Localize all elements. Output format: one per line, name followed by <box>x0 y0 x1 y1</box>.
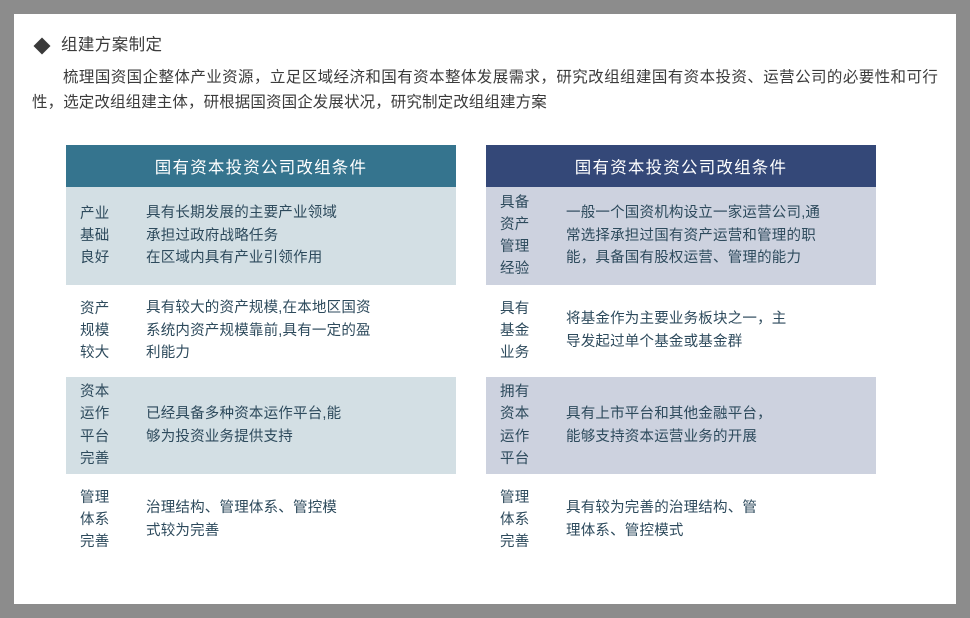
row-label-line: 平台 <box>80 426 146 448</box>
row-label: 拥有 资本 运作 平台 <box>500 381 566 469</box>
row-description: 已经具备多种资本运作平台,能 够为投资业务提供支持 <box>146 403 456 448</box>
row-desc-line: 利能力 <box>146 342 448 365</box>
row-desc-line: 能够支持资本运营业务的开展 <box>566 426 868 449</box>
slide-canvas: 组建方案制定 梳理国资国企整体产业资源，立足区域经济和国有资本整体发展需求，研究… <box>14 14 956 604</box>
right-table-header: 国有资本投资公司改组条件 <box>486 145 876 187</box>
row-desc-line: 承担过政府战略任务 <box>146 225 448 248</box>
row-description: 具有较为完善的治理结构、管 理体系、管控模式 <box>566 497 876 542</box>
row-desc-line: 已经具备多种资本运作平台,能 <box>146 403 448 426</box>
row-label-line: 基金 <box>500 320 566 342</box>
row-label-line: 平台 <box>500 448 566 470</box>
row-label-line: 管理 <box>500 236 566 258</box>
slide-frame: 组建方案制定 梳理国资国企整体产业资源，立足区域经济和国有资本整体发展需求，研究… <box>0 0 970 618</box>
row-label-line: 经验 <box>500 258 566 280</box>
row-label: 资产 规模 较大 <box>80 298 146 364</box>
row-label-line: 业务 <box>500 342 566 364</box>
table-row: 具备 资产 管理 经验 一般一个国资机构设立一家运营公司,通 常选择承担过国有资… <box>486 187 876 285</box>
row-label-line: 完善 <box>500 531 566 553</box>
row-label-line: 良好 <box>80 247 146 269</box>
row-description: 治理结构、管理体系、管控模 式较为完善 <box>146 497 456 542</box>
row-label-line: 具备 <box>500 192 566 214</box>
left-table: 国有资本投资公司改组条件 产业 基础 良好 具有长期发展的主要产业领域 承担过政… <box>66 145 456 566</box>
row-label: 产业 基础 良好 <box>80 203 146 269</box>
row-desc-line: 具有上市平台和其他金融平台， <box>566 403 868 426</box>
table-row: 管理 体系 完善 具有较为完善的治理结构、管 理体系、管控模式 <box>486 474 876 566</box>
row-label-line: 资本 <box>80 381 146 403</box>
row-label-line: 资本 <box>500 403 566 425</box>
row-desc-line: 能，具备国有股权运营、管理的能力 <box>566 247 868 270</box>
row-description: 将基金作为主要业务板块之一，主 导发起过单个基金或基金群 <box>566 308 876 353</box>
row-label-line: 规模 <box>80 320 146 342</box>
row-label-line: 运作 <box>500 426 566 448</box>
row-desc-line: 理体系、管控模式 <box>566 520 868 543</box>
row-label-line: 完善 <box>80 531 146 553</box>
section-title: 组建方案制定 <box>61 36 162 56</box>
row-label: 具备 资产 管理 经验 <box>500 192 566 280</box>
row-label-line: 完善 <box>80 448 146 470</box>
row-label-line: 基础 <box>80 225 146 247</box>
table-row: 产业 基础 良好 具有长期发展的主要产业领域 承担过政府战略任务 在区域内具有产… <box>66 187 456 285</box>
row-label: 管理 体系 完善 <box>500 487 566 553</box>
table-row: 具有 基金 业务 将基金作为主要业务板块之一，主 导发起过单个基金或基金群 <box>486 285 876 377</box>
row-description: 一般一个国资机构设立一家运营公司,通 常选择承担过国有资产运营和管理的职 能，具… <box>566 202 876 270</box>
row-desc-line: 导发起过单个基金或基金群 <box>566 331 868 354</box>
row-label-line: 拥有 <box>500 381 566 403</box>
right-table: 国有资本投资公司改组条件 具备 资产 管理 经验 一般一个国资机构设立一家运营公… <box>486 145 876 566</box>
row-label-line: 管理 <box>500 487 566 509</box>
row-label-line: 产业 <box>80 203 146 225</box>
row-description: 具有上市平台和其他金融平台， 能够支持资本运营业务的开展 <box>566 403 876 448</box>
left-table-header: 国有资本投资公司改组条件 <box>66 145 456 187</box>
row-desc-line: 一般一个国资机构设立一家运营公司,通 <box>566 202 868 225</box>
table-row: 资本 运作 平台 完善 已经具备多种资本运作平台,能 够为投资业务提供支持 <box>66 377 456 474</box>
row-label-line: 管理 <box>80 487 146 509</box>
row-desc-line: 常选择承担过国有资产运营和管理的职 <box>566 225 868 248</box>
table-row: 管理 体系 完善 治理结构、管理体系、管控模 式较为完善 <box>66 474 456 566</box>
row-label-line: 较大 <box>80 342 146 364</box>
row-desc-line: 治理结构、管理体系、管控模 <box>146 497 448 520</box>
intro-title-row: 组建方案制定 <box>36 36 938 56</box>
row-desc-line: 具有长期发展的主要产业领域 <box>146 202 448 225</box>
intro-block: 组建方案制定 梳理国资国企整体产业资源，立足区域经济和国有资本整体发展需求，研究… <box>14 14 956 115</box>
row-label-line: 体系 <box>80 509 146 531</box>
row-label: 具有 基金 业务 <box>500 298 566 364</box>
row-desc-line: 将基金作为主要业务板块之一，主 <box>566 308 868 331</box>
tables-container: 国有资本投资公司改组条件 产业 基础 良好 具有长期发展的主要产业领域 承担过政… <box>14 145 956 566</box>
row-label-line: 体系 <box>500 509 566 531</box>
section-body-text: 梳理国资国企整体产业资源，立足区域经济和国有资本整体发展需求，研究改组组建国有资… <box>32 65 938 115</box>
row-label-line: 资产 <box>500 214 566 236</box>
row-label-line: 运作 <box>80 403 146 425</box>
row-label: 资本 运作 平台 完善 <box>80 381 146 469</box>
row-label-line: 资产 <box>80 298 146 320</box>
row-desc-line: 具有较为完善的治理结构、管 <box>566 497 868 520</box>
row-label-line: 具有 <box>500 298 566 320</box>
row-desc-line: 式较为完善 <box>146 520 448 543</box>
row-desc-line: 够为投资业务提供支持 <box>146 426 448 449</box>
table-row: 资产 规模 较大 具有较大的资产规模,在本地区国资 系统内资产规模靠前,具有一定… <box>66 285 456 377</box>
table-row: 拥有 资本 运作 平台 具有上市平台和其他金融平台， 能够支持资本运营业务的开展 <box>486 377 876 474</box>
diamond-bullet-icon <box>34 37 51 54</box>
row-desc-line: 在区域内具有产业引领作用 <box>146 247 448 270</box>
row-description: 具有较大的资产规模,在本地区国资 系统内资产规模靠前,具有一定的盈 利能力 <box>146 297 456 365</box>
row-description: 具有长期发展的主要产业领域 承担过政府战略任务 在区域内具有产业引领作用 <box>146 202 456 270</box>
row-desc-line: 系统内资产规模靠前,具有一定的盈 <box>146 320 448 343</box>
row-desc-line: 具有较大的资产规模,在本地区国资 <box>146 297 448 320</box>
row-label: 管理 体系 完善 <box>80 487 146 553</box>
